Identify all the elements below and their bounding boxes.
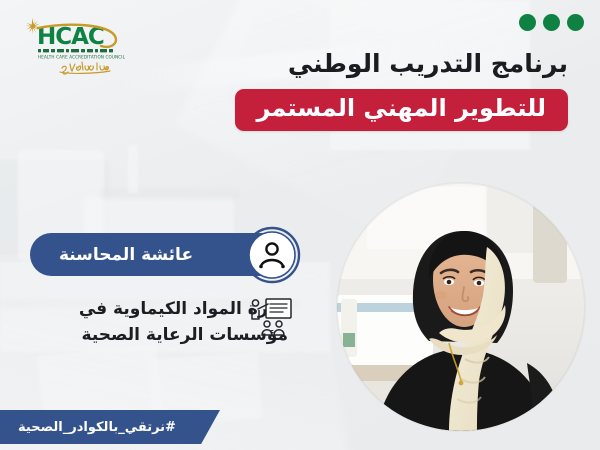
speaker-name: عائشة المحاسنة	[30, 245, 256, 265]
hcac-logo-svg: HCAC HEALTH CARE ACCREDITATION COUNCI	[22, 16, 132, 78]
hcac-logo: HCAC HEALTH CARE ACCREDITATION COUNCI	[22, 16, 132, 78]
logo-tagline	[60, 62, 110, 74]
green-dot-icon-3	[519, 14, 536, 31]
svg-text:HEALTH CARE ACCREDITATION COUN: HEALTH CARE ACCREDITATION COUNCIL	[38, 55, 126, 60]
avatar	[243, 226, 301, 284]
speaker-portrait-image	[337, 183, 585, 431]
course-title-line-2: مؤسسات الرعاية الصحية	[18, 322, 288, 348]
headline-subtitle-badge: للتطوير المهني المستمر	[235, 89, 569, 132]
course-title-line-1: إدارة المواد الكيماوية في	[18, 296, 288, 322]
speaker-portrait	[337, 183, 585, 431]
course-title: إدارة المواد الكيماوية في مؤسسات الرعاية…	[18, 296, 288, 349]
person-icon	[243, 226, 301, 284]
logo-english-name: HEALTH CARE ACCREDITATION COUNCIL	[38, 55, 126, 60]
speaker-name-banner: عائشة المحاسنة	[30, 233, 272, 276]
page-title: برنامج التدريب الوطني	[235, 50, 569, 78]
footer-hashtag: #نرتقي_بالكوادر_الصحية	[18, 420, 186, 435]
svg-text:HCAC: HCAC	[37, 24, 104, 50]
green-dot-icon-2	[543, 14, 560, 31]
footer-hashtag-banner: #نرتقي_بالكوادر_الصحية	[0, 410, 220, 444]
headline-block: برنامج التدريب الوطني للتطوير المهني الم…	[235, 50, 569, 131]
poster-canvas: HCAC HEALTH CARE ACCREDITATION COUNCI	[0, 0, 600, 450]
green-dot-icon-1	[567, 14, 584, 31]
training-presentation-icon	[249, 297, 293, 337]
hcac-wordmark: HCAC	[37, 24, 104, 50]
green-dots-group	[519, 14, 584, 31]
